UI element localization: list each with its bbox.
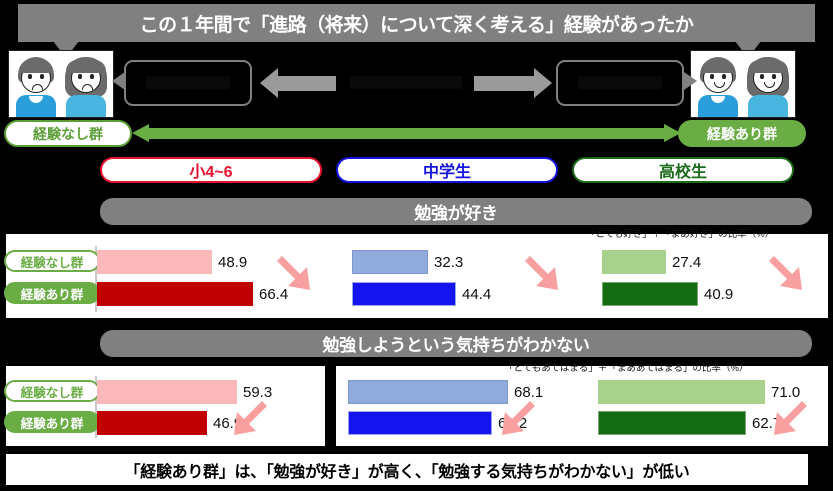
speech-bubble-tail-right-icon [684, 72, 697, 90]
row-label-no-experience: 経験なし群 [4, 250, 100, 272]
bar-highschool-has-experience [598, 411, 746, 435]
infographic-root: この１年間で「進路（将来）について深く考える」経験があったか [0, 0, 833, 491]
eye-right [722, 74, 726, 79]
trend-arrow-increase-icon [276, 250, 322, 296]
eye-left [760, 74, 764, 79]
eye-right [90, 74, 94, 79]
happy-girl-figure [744, 55, 792, 117]
row-label-has-experience: 経験あり群 [4, 411, 100, 433]
speech-bubble-tail-left-icon [112, 72, 125, 90]
spectrum-label-no-experience: 経験なし群 [4, 120, 132, 147]
grade-pill-juniorhigh: 中学生 [336, 157, 558, 183]
bar-highschool-has-experience [602, 282, 698, 306]
conclusion-banner: 「経験あり群」は、「勉強が好き」が高く、「勉強する気持ちがわかない」が低い [4, 452, 810, 487]
eye-left [28, 74, 32, 79]
trend-arrow-increase-icon [524, 250, 570, 296]
fringe-shape [19, 60, 53, 73]
eye-right [772, 74, 776, 79]
eye-right [40, 74, 44, 79]
torso-shape [66, 95, 106, 117]
chart-box-no-motivation-elementary: 経験なし群 経験あり群 59.3 46.9 [4, 364, 327, 448]
sad-girl-figure [62, 55, 110, 117]
bar-juniorhigh-has-experience [348, 411, 492, 435]
bar-highschool-no-experience [598, 380, 765, 404]
bar-juniorhigh-has-experience [352, 282, 456, 306]
eye-left [78, 74, 82, 79]
chart-note-no-motivation: 「とてもあてはまる」＋「まああてはまる」の比率（%） [504, 360, 748, 374]
page-title: この１年間で「進路（将来）について深く考える」経験があったか [18, 4, 815, 42]
trend-arrow-decrease-icon [490, 395, 536, 441]
mouth-frown [82, 84, 93, 90]
mouth-frown [32, 84, 43, 90]
fringe-shape [66, 60, 106, 73]
spectrum-bar [148, 128, 664, 139]
value-juniorhigh-has-experience: 44.4 [462, 282, 491, 306]
trend-arrow-decrease-icon [762, 395, 808, 441]
spectrum-arrow-left-icon [132, 124, 149, 142]
grade-pill-highschool: 高校生 [572, 157, 794, 183]
row-label-has-experience: 経験あり群 [4, 282, 100, 304]
sad-boy-figure [12, 55, 60, 117]
bar-elementary-has-experience [97, 411, 207, 435]
value-elementary-no-experience: 48.9 [218, 250, 247, 274]
torso-shape [748, 95, 788, 117]
fringe-shape [701, 60, 735, 73]
redacted-text-block [146, 77, 230, 90]
section-header-study-like: 勉強が好き [100, 198, 812, 225]
value-juniorhigh-no-experience: 32.3 [434, 250, 463, 274]
bar-elementary-no-experience [97, 250, 212, 274]
bar-juniorhigh-no-experience [348, 380, 508, 404]
row-label-no-experience: 経験なし群 [4, 380, 100, 402]
trend-arrow-decrease-icon [222, 395, 268, 441]
chart-note-study-like: 「とても好き」＋「まあ好き」の比率（%） [586, 226, 774, 240]
gray-arrow-left-shaft [276, 76, 336, 91]
eye-left [710, 74, 714, 79]
grade-pill-elementary: 小4~6 [100, 157, 322, 183]
chart-box-no-motivation-secondary: 「とてもあてはまる」＋「まああてはまる」の比率（%） 68.1 61.2 71.… [334, 364, 830, 448]
happy-boy-figure [694, 55, 742, 117]
bar-elementary-no-experience [97, 380, 237, 404]
value-highschool-no-experience: 27.4 [672, 250, 701, 274]
gray-arrow-right-shaft [474, 76, 534, 91]
trend-arrow-increase-icon [768, 250, 814, 296]
bar-highschool-no-experience [602, 250, 666, 274]
speech-bubble-left [124, 60, 252, 106]
section-header-no-motivation: 勉強しようという気持ちがわかない [100, 330, 812, 357]
redacted-text-block [350, 76, 462, 89]
bar-elementary-has-experience [97, 282, 253, 306]
value-highschool-has-experience: 40.9 [704, 282, 733, 306]
fringe-shape [748, 60, 788, 73]
chart-box-study-like: 「とても好き」＋「まあ好き」の比率（%） 経験なし群 経験あり群 48.9 66… [4, 232, 830, 320]
spectrum-label-has-experience: 経験あり群 [678, 120, 806, 147]
bar-juniorhigh-no-experience [352, 250, 428, 274]
middle-label [344, 72, 470, 94]
gray-arrow-right-icon [534, 68, 552, 98]
redacted-text-block [578, 77, 662, 90]
happy-children-illustration [690, 50, 796, 118]
sad-children-illustration [8, 50, 114, 118]
speech-bubble-right [556, 60, 684, 106]
